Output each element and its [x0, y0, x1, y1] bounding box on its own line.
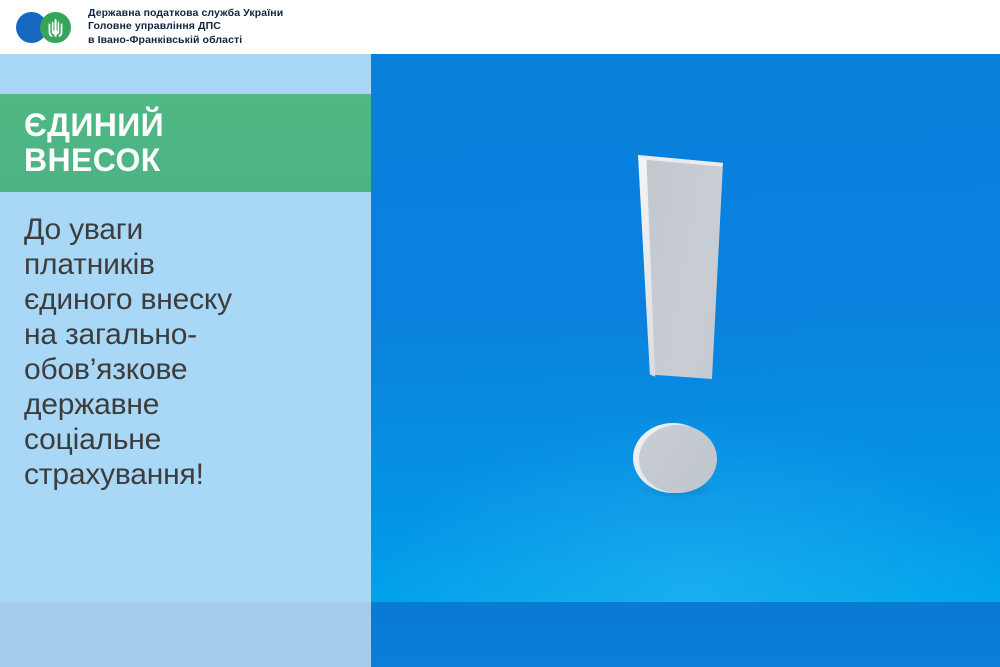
- poster: Державна податкова служба України Головн…: [0, 0, 1000, 667]
- exclamation-mark-icon: [371, 54, 1000, 667]
- announcement-line-3: єдиного внеску: [24, 282, 354, 317]
- topic-banner: ЄДИНИЙ ВНЕСОК: [0, 94, 371, 192]
- announcement-text: До уваги платників єдиного внеску на заг…: [24, 212, 354, 492]
- announcement-line-4: на загально-: [24, 317, 354, 352]
- announcement-line-1: До уваги: [24, 212, 354, 247]
- left-floor-band: [0, 602, 371, 667]
- exclamation-bar-left-bevel: [635, 155, 723, 379]
- right-illustration-panel: [371, 54, 1000, 667]
- agency-title-line-1: Державна податкова служба України: [88, 7, 283, 21]
- agency-logo: [16, 10, 80, 44]
- header-bar: Державна податкова служба України Головн…: [0, 0, 1000, 54]
- exclamation-bar-top-bevel: [635, 155, 723, 379]
- ukrainian-trident-icon: [47, 18, 64, 37]
- agency-title-line-2: Головне управління ДПС: [88, 20, 283, 34]
- announcement-line-7: соціальне: [24, 422, 354, 457]
- green-circle-icon: [40, 12, 71, 43]
- announcement-line-5: обов’язкове: [24, 352, 354, 387]
- exclamation-bar-face: [635, 155, 723, 379]
- agency-title: Державна податкова служба України Головн…: [88, 7, 283, 48]
- topic-banner-line-1: ЄДИНИЙ: [24, 108, 371, 143]
- exclamation-dot-shadow: [637, 482, 719, 498]
- announcement-line-2: платників: [24, 247, 354, 282]
- announcement-line-6: державне: [24, 387, 354, 422]
- exclamation-dot-rim: [633, 423, 713, 493]
- right-floor-band: [371, 602, 1000, 667]
- announcement-line-8: страхування!: [24, 457, 354, 492]
- topic-banner-line-2: ВНЕСОК: [24, 143, 371, 178]
- agency-title-line-3: в Івано-Франківській області: [88, 34, 283, 48]
- left-content-panel: ЄДИНИЙ ВНЕСОК До уваги платників єдиного…: [0, 54, 371, 667]
- exclamation-dot-face: [639, 425, 717, 493]
